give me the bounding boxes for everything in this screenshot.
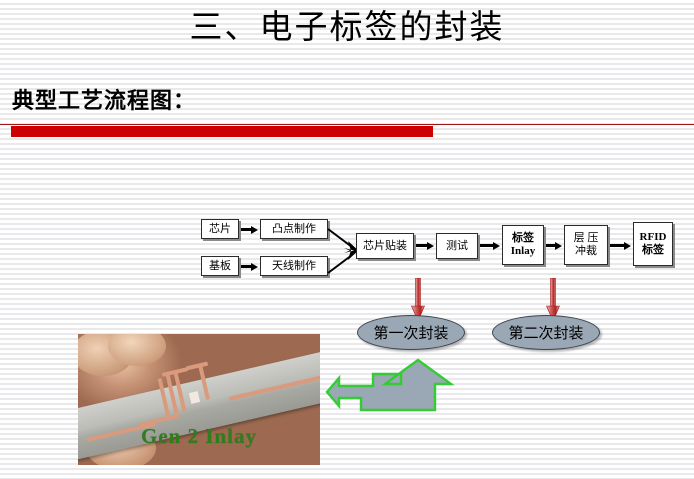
green-bent-arrow: [325, 358, 455, 420]
arrow-chip-to-bump: [241, 226, 258, 233]
page-title: 三、电子标签的封装: [0, 8, 694, 48]
thick-red-bar: [11, 126, 433, 137]
section-subtitle: 典型工艺流程图：: [12, 88, 196, 114]
arrow-substrate-to-antenna: [241, 263, 258, 270]
flow-box-chip[interactable]: 芯片: [201, 219, 239, 239]
arrow-test-to-inlay: [480, 242, 500, 249]
flow-box-inlay[interactable]: 标签 Inlay: [502, 225, 544, 265]
rfid-inlay-photo: Gen 2 Inlay: [78, 334, 320, 465]
flow-box-antenna[interactable]: 天线制作: [260, 256, 328, 276]
flow-box-lamination[interactable]: 层 压 冲裁: [564, 225, 608, 265]
flow-box-bump[interactable]: 凸点制作: [260, 219, 328, 239]
arrow-lamination-to-rfid-tag: [610, 242, 631, 249]
slide-canvas: 三、电子标签的封装 典型工艺流程图： 芯片 凸点制作 基板 天线制作: [0, 0, 694, 479]
arrow-inlay-to-lamination: [546, 242, 562, 249]
flow-box-test[interactable]: 测试: [436, 233, 478, 259]
flow-box-rfid-tag[interactable]: RFID 标签: [633, 222, 673, 266]
thin-red-rule: [0, 124, 694, 125]
photo-caption: Gen 2 Inlay: [78, 424, 320, 449]
flow-box-die-attach[interactable]: 芯片贴装: [356, 233, 414, 259]
ellipse-second-packaging[interactable]: 第二次封装: [492, 315, 600, 350]
ellipse-first-packaging[interactable]: 第一次封装: [357, 315, 465, 350]
flow-box-substrate[interactable]: 基板: [201, 256, 239, 276]
arrow-die-attach-to-test: [416, 242, 434, 249]
